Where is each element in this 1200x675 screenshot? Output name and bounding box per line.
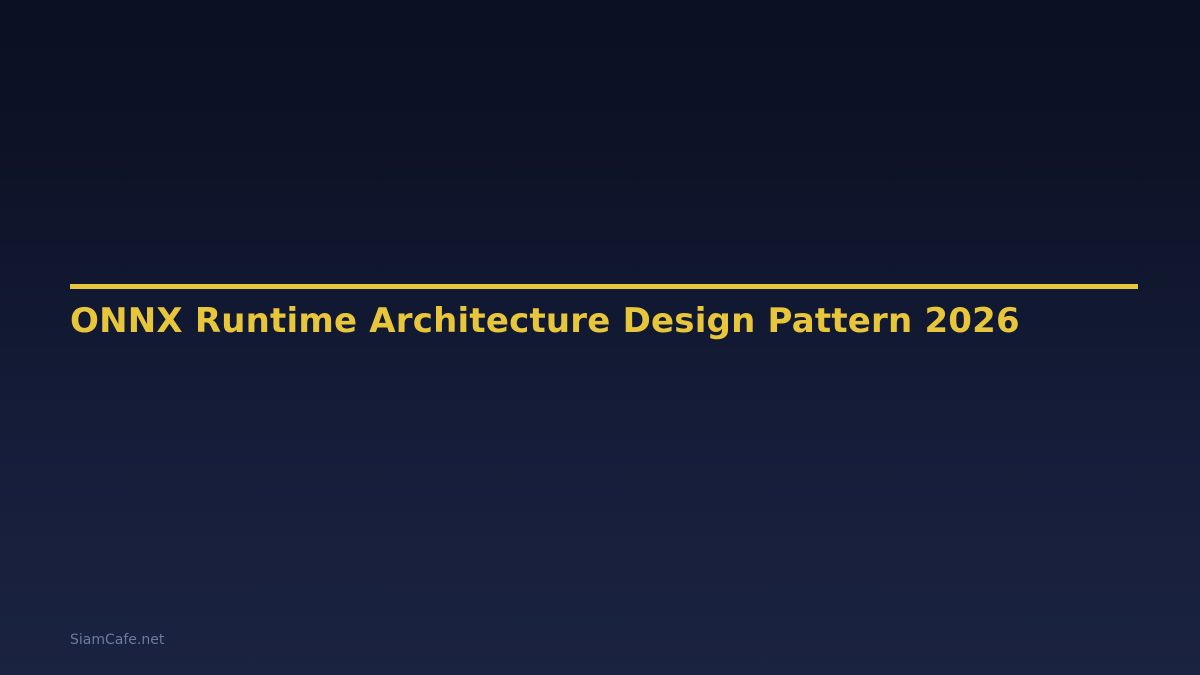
title-accent-bar bbox=[70, 284, 1138, 289]
title-slide: ONNX Runtime Architecture Design Pattern… bbox=[0, 0, 1200, 675]
footer: SiamCafe.net bbox=[70, 630, 164, 650]
page-title: ONNX Runtime Architecture Design Pattern… bbox=[70, 300, 1138, 342]
title-block: ONNX Runtime Architecture Design Pattern… bbox=[70, 300, 1138, 342]
footer-attribution: SiamCafe.net bbox=[70, 630, 164, 650]
